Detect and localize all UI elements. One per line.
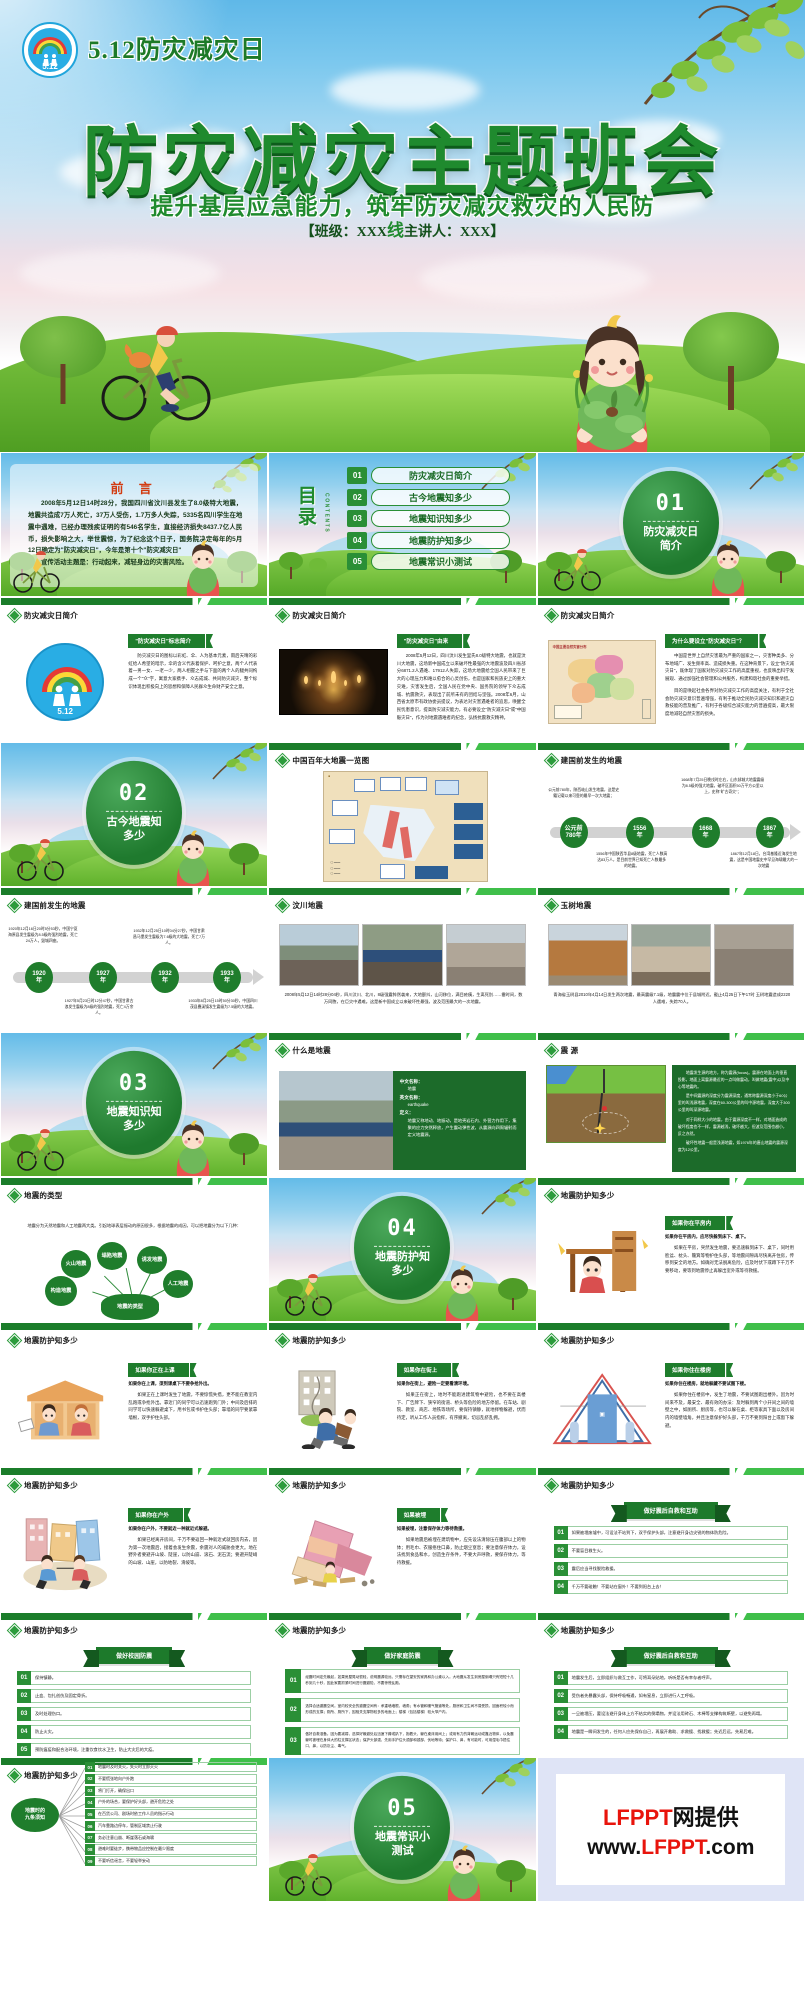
slide-header-text: 防灾减灾日简介 [561,610,615,621]
slide-thumbnail[interactable]: 05 地震常识小 测试 [268,1757,536,1902]
leaf-bullet-icon [9,1335,20,1346]
slide-header-text: 地震防护知多少 [24,1480,78,1491]
slide-top-bar [1,1178,267,1185]
slide-thumbnail-grid: 前 言 2008年5月12日14时28分，我国四川省汶川县发生了8.0级特大地震… [0,452,805,1902]
tree-icon [279,552,303,572]
leaf-bullet-icon [9,610,20,621]
toc-title-en: CONTENTS [323,493,329,533]
slide-top-bar [538,598,804,605]
numbered-list: 01 地震发生后，立即组织与救互工作，可将耳朵贴地，听听是否有幸存者呼声。 02… [554,1671,788,1739]
mindmap-node: 诱发地震 [137,1246,167,1274]
tree-icon [498,1278,528,1303]
timeline-node: 1920年 [25,962,53,993]
ribbon-text: 如果你在户外 [135,1513,169,1519]
intro-text: 地震分为天然地震和人工地震两大类。引起地球表层振动的原因很多，根据地震的成因，可… [15,1222,253,1229]
section-ribbon: 如果你住在楼房 [665,1363,725,1377]
hypocenter-diagram [546,1065,666,1172]
item-number: 02 [554,1689,568,1703]
leaf-bullet-icon [277,755,288,766]
slide-thumbnail[interactable]: 防灾减灾日简介 5.12 "防灾减灾日"标志简介 防灾减灾日的图标以彩虹、伞、人… [0,597,268,742]
body-text: 中国是世界上自然灾害最为严重的国家之一，灾害种类多、分布地域广、发生频率高、造成… [665,652,794,683]
section-number: 05 [387,1796,418,1821]
item-number: 01 [85,1762,95,1772]
girl-holding-earth-illustration [434,1845,494,1901]
photo-strip [548,924,794,986]
girl-holding-earth-illustration [163,830,223,886]
ribbon-text: 如果你在街上 [404,1368,438,1374]
slide-header-text: 中国百年大地震一览图 [292,755,369,766]
toc-number: 04 [347,532,367,549]
leaf-bullet-icon [277,1480,288,1491]
hero-meta-post: 主讲人：XXX】 [404,225,504,240]
hide-under-desk-illustration [548,1212,656,1313]
slide-header-text: 汶川地震 [292,900,323,911]
classroom-desk-illustration [11,1359,119,1458]
mindmap-node: 塌陷地震 [97,1242,127,1270]
item-text: 止血、包扎创伤及固定骨折。 [31,1689,251,1703]
item-text: 震后应当寻找脱险救援。 [568,1562,788,1576]
item-number: 08 [85,1844,95,1854]
section-band: 做好震后自救和互助 [624,1647,718,1664]
list-item: 09 不要听信谣言，不要轻举妄动 [85,1856,257,1866]
section-title-line1: 古今地震知 [107,816,162,830]
list-item: 05 在百货公司、剧场时依工作人员的指示行动 [85,1809,257,1819]
hero-brand-text: 5.12防灾减灾日 [88,30,266,66]
item-text: 地震是一瞬间发生的，任何人应先保存自己，再展开救助、求救援、找救援；先近后远，先… [568,1725,788,1739]
leaf-bullet-icon [277,900,288,911]
outdoor-escape-illustration [11,1504,119,1603]
slide-top-bar [538,888,804,895]
section-number: 03 [119,1071,150,1096]
list-item: 02 受伤者先暴露头部，保持呼吸畅通，如有窒息，立即进行人工呼吸。 [554,1689,788,1703]
definition-key: 定义： [400,1110,519,1116]
list-item: 03 及时处理伤口。 [17,1707,251,1721]
leaf-bullet-icon [546,1045,557,1056]
leaf-bullet-icon [546,900,557,911]
list-item: 03 做好自救准备。因为要减弱，选择好躲避处后迅速下蹲或趴下，抱着头，躲在桌床用… [285,1727,519,1755]
toc-item[interactable]: 03 地震知识知多少 [347,510,509,527]
slide-thumbnail[interactable]: 中国百年大地震一览图 ■ ◯ ━━━━◯ ━━━━◯ ━━━━ [268,742,536,887]
slide-header: 中国百年大地震一览图 [277,755,369,766]
slide-thumbnail[interactable]: 地震防护知多少 如果你正在上课 [0,1322,268,1467]
toc-label-text: 地震常识小测试 [371,553,509,570]
item-text: 务必注意山崩、断崖落石或海啸 [95,1833,257,1843]
slide-header-text: 玉树地震 [561,900,592,911]
leaf-branch-icon [185,1032,268,1083]
slide-thumbnail[interactable]: 地震防护知多少 做好校园防震 01 保持镇静。 02 止血、包扎创伤及固定骨折。… [0,1612,268,1757]
girl-holding-earth-illustration [537,312,687,452]
item-number: 03 [554,1562,568,1576]
earthquake-photo [279,924,359,986]
body-text: 地震发生源的地方，称为震源(focus)。震源在地面上的垂直投影，地面上离震源最… [678,1070,790,1090]
slide-thumbnail[interactable]: 地震防护知多少 如果你在平房内 [537,1177,805,1322]
tree-icon [766,551,796,576]
lead-text: 如果被埋，注意保存体力等待救援。 [397,1526,526,1532]
item-number: 04 [17,1725,31,1739]
watermark-line-2: www.LFPPT.com [587,1836,754,1860]
item-number: 03 [285,1727,301,1755]
mindmap-connectors [57,1764,87,1876]
map-caption: 中国主要自然灾害分布 [553,644,587,649]
list-item: 01 如果被埋废墟中，可设法不站到下，双手保护头部，注意避开身边尖锐的物体防危险… [554,1526,788,1540]
mindmap-node: 人工地震 [163,1270,193,1298]
numbered-list: 01 如果被埋废墟中，可设法不站到下，双手保护头部，注意避开身边尖锐的物体防危险… [554,1526,788,1594]
slide-thumbnail[interactable]: 地震防护知多少 做好震后自救和互助 01 地震发生后，立即组织与救互工作，可将耳… [537,1612,805,1757]
slide-header: 玉树地震 [546,900,592,911]
item-number: 09 [85,1856,95,1866]
toc-label-text: 地震知识知多少 [371,510,509,527]
hero-meta-green: 线 [387,221,404,240]
watermark-url-brand: LFPPT [641,1836,705,1859]
slide-header: 地震防护知多少 [277,1335,346,1346]
slide-header: 地震防护知多少 [546,1190,615,1201]
definition-panel: 中文名称： 地震 英文名称： earthquake 定义： 地震又称地动、地振动… [393,1071,526,1170]
leaf-branch-icon [722,452,805,503]
slide-header-text: 地震防护知多少 [292,1480,346,1491]
hero-meta: 【班级：XXX线主讲人：XXX】 [0,216,805,241]
leaf-branch-icon [454,1177,537,1228]
list-item: 03 将门打开，确保出口 [85,1786,257,1796]
boy-on-bicycle-illustration [15,1128,65,1172]
ribbon-text: "防灾减灾日"标志简介 [135,639,191,645]
definition-value: earthquake [408,1102,519,1107]
slide-thumbnail[interactable]: 地震防护知多少 [0,1467,268,1612]
tree-icon [309,558,327,574]
item-text: 户外的场合，要保护好头部，避开危险之处 [95,1797,257,1807]
lead-text: 如果你在上课，须到课桌下不要争抢外出。 [128,1381,257,1387]
section-title-line2: 测试 [391,1845,413,1859]
item-number: 04 [85,1797,95,1807]
list-item: 02 不要盲目救生火。 [554,1544,788,1558]
list-item: 04 地震是一瞬间发生的，任何人应先保存自己，再展开救助、求救援、找救援；先近后… [554,1725,788,1739]
watermark-suffix: 网提供 [673,1805,739,1830]
timeline-node: 1927年 [89,962,117,993]
slide-thumbnail[interactable]: 01 防灾减灾日 简介 [537,452,805,597]
definition-key: 英文名称： [400,1095,519,1101]
earthquake-photo [631,924,711,986]
slide-top-bar [1,888,267,895]
list-item: 02 不要慌张地向户外跑 [85,1774,257,1784]
list-item: 03 震后应当寻找脱险救援。 [554,1562,788,1576]
leaf-bullet-icon [546,1480,557,1491]
item-text: 不要盲目救生火。 [568,1544,788,1558]
slide-top-bar [269,1323,535,1330]
timeline-node: 1933年 [213,962,241,993]
slide-header: 地震防护知多少 [546,1335,615,1346]
item-number: 01 [17,1671,31,1685]
item-text: 防止火灾。 [31,1725,251,1739]
slide-header-text: 建国前发生的地震 [561,755,623,766]
toc-label-text: 地震防护知多少 [371,532,509,549]
item-number: 02 [17,1689,31,1703]
timeline-note: 1932年12月25日10时04分27秒，中国甘肃昌马堡发生震级为7.6级的大地… [133,928,205,946]
slide-thumbnail[interactable]: 防灾减灾日简介 中国主要自然灾害分布 为什么要设立"防灾减灾日"？ 中国是世界上… [537,597,805,742]
slide-thumbnail[interactable]: 地震防护知多少 [268,1322,536,1467]
slide-header-text: 震 源 [561,1045,579,1056]
body-text: 如果正在上课时发生了地震，不要惊慌失措，更不能在教室内乱跑或争抢外出。靠近门的同… [128,1391,257,1422]
boy-on-bicycle-illustration [552,548,602,592]
watermark-url-pre: www. [587,1836,641,1859]
mindmap-center: 地震时的九条须知 [11,1798,59,1832]
boy-on-bicycle-illustration [283,1273,333,1317]
slide-thumbnail[interactable]: 地震防护知多少 ▣ 如果你住在楼房 如果你住在楼房，就地躲藏不要试图下楼。 如果 [537,1322,805,1467]
item-number: 01 [554,1671,568,1685]
tree-icon [496,1860,526,1885]
toc-number: 01 [347,467,367,484]
list-item: 03 一旦被埋压，要设法避开身体上方不结实的倒塌物，并设法用砖石、木棒等支撑构筑… [554,1707,788,1721]
list-item: 05 预防瘟疫和配合治环境，注重饮食饮水卫生，防止大灾后的大疫。 [17,1743,251,1757]
list-item: 01 经震时间定先躲起，如果房屋晃动很轻，说明震源较远，只需标在望安的家具和办公… [285,1669,519,1693]
leaf-bullet-icon [546,1625,557,1636]
section-title-line2: 简介 [660,540,682,554]
slide-thumbnail[interactable]: 地震防护知多少 做好家庭防震 01 经震时间定先躲起，如果房屋晃动很轻，说明震源… [268,1612,536,1757]
slide-header-text: 防灾减灾日简介 [292,610,346,621]
ribbon-text: 如果被埋 [404,1513,426,1519]
leaf-branch-icon [454,1757,537,1808]
ribbon-text: 为什么要设立"防灾减灾日"？ [672,639,744,645]
item-number: 07 [85,1833,95,1843]
item-text: 将门打开，确保出口 [95,1786,257,1796]
body-text-2: 目的是唤起社会各界对防灾减灾工作的高度关注，有利于全社会防灾减灾意识普遍增强，有… [665,687,794,718]
slide-top-bar [1,1323,267,1330]
slide-thumbnail[interactable]: 地震防护知多少 如果被埋 如果被埋，注意保存体力等待救援。 [268,1467,536,1612]
toc-item[interactable]: 04 地震防护知多少 [347,532,509,549]
item-number: 03 [554,1707,568,1721]
slide-top-bar [538,743,804,750]
item-text: 不要慌张地向户外跑 [95,1774,257,1784]
boy-on-bicycle-illustration [283,1853,333,1897]
toc-label: 目录 [295,487,321,529]
slide-header: 汶川地震 [277,900,323,911]
slide-header-text: 地震防护知多少 [561,1480,615,1491]
list-item: 01 保持镇静。 [17,1671,251,1685]
slide-thumbnail[interactable]: 地震的类型 地震分为天然地震和人工地震两大类。引起地球表层振动的原因很多，根据地… [0,1177,268,1322]
item-number: 02 [85,1774,95,1784]
slide-header-text: 地震防护知多少 [561,1335,615,1346]
slide-top-bar [269,1033,535,1040]
body-text: 如果正在街上，地时不能跑进建筑物中避险，也不要在高楼下、广告牌下、狭窄的街道、桥… [397,1391,526,1422]
item-number: 02 [285,1698,301,1722]
timeline-note: 1867年12月18日，台湾基隆近海发生地震，这是中国地震史中罕见海啸最大的一次… [728,851,800,869]
tree-left [20,316,106,386]
section-ribbon: 如果被埋 [397,1508,440,1522]
timeline-note: 1556年中国陕西华县8级地震，死亡人数高达83万人，是目前世界已知死亡人数最多… [596,851,668,869]
slide-thumbnail[interactable]: 地震防护知多少 地震时的九条须知 01 地震时及时关火，失火时立即灭火 02 不… [0,1757,268,1902]
slide-thumbnail[interactable]: 震 源 地震发生源的地方，称为震源(focus)。震源在地面上的垂直投影，地面上… [537,1032,805,1177]
slide-header-text: 地震防护知多少 [561,1190,615,1201]
item-text: 选择合适避震空间。室内较安全的避震空间有：承重墙墙根、墙角；有水管和暖气管道等处… [301,1698,519,1722]
timeline-note: 1927年5月23日时12分47秒，中国甘肃古浪发生震级为8级的强烈地震，死亡4… [63,998,135,1016]
photo-strip [279,924,525,986]
slide-header: 地震防护知多少 [277,1480,346,1491]
item-text: 受伤者先暴露头部，保持呼吸畅通，如有窒息，立即进行人工呼吸。 [568,1689,788,1703]
slide-top-bar [538,1033,804,1040]
slide-top-bar [538,1323,804,1330]
slide-top-bar [538,1178,804,1185]
item-text: 一旦被埋压，要设法避开身体上方不结实的倒塌物，并设法用砖石、木棒等支撑构筑断壁，… [568,1707,788,1721]
slide-header-text: 地震的类型 [24,1190,63,1201]
toc-item[interactable]: 02 古今地震知多少 [347,489,509,506]
street-rescue-illustration [279,1359,387,1458]
slide-header: 地震防护知多少 [277,1625,346,1636]
leaf-bullet-icon [546,1190,557,1201]
watermark-line-1: LFPPT网提供 [603,1800,739,1832]
boy-on-bicycle-illustration [96,318,216,428]
slide-thumbnail[interactable]: 汶川地震 2008年5月12日14时28分04秒，四川汶川、北川，8级强震猝然袭… [268,887,536,1032]
timeline-node: 1932年 [151,962,179,993]
section-title-line1: 地震知识知 [107,1106,162,1120]
timeline-node: 1867年 [756,817,784,848]
toc-number: 05 [347,553,367,570]
hero-cover-slide: 5.12 5.12防灾减灾日 防灾减灾主题班会 提升基层应急能力，筑牢防灾减灾救… [0,0,805,452]
item-text: 预防瘟疫和配合治环境，注重饮食饮水卫生，防止大灾后的大疫。 [31,1743,251,1757]
lead-text: 如果你在户外，不要就近一种就近式躲避。 [128,1526,257,1532]
earthquake-photo [362,924,442,986]
timeline-node: 1668年 [692,817,720,848]
slide-top-bar [1,1613,267,1620]
disaster-prevention-logo: 5.12 [22,22,78,78]
photo-caption: 2008年5月12日14时28分04秒，四川汶川、北川，8级强震猝然袭来，大地颤… [283,992,523,1005]
numbered-list: 01 保持镇静。 02 止血、包扎创伤及固定骨折。 03 及时处理伤口。 04 … [17,1671,251,1757]
item-text: 地震时及时关火，失火时立即灭火 [95,1762,257,1772]
earthquake-photo [446,924,526,986]
list-item: 04 千万不要碰触！不要站在窗外！不要到阳台上去！ [554,1580,788,1594]
section-ribbon: "防灾减灾日"由来 [397,634,462,648]
section-title-line1: 防灾减灾日 [643,526,698,540]
slide-top-bar [269,598,535,605]
body-text: 2008年5月12日，四川汶川发生里氏8.0级特大地震，也就是汶川大地震，这场新… [397,652,526,721]
svg-text:▣: ▣ [599,1411,605,1417]
list-item: 04 户外的场合，要保护好头部，避开危险之处 [85,1797,257,1807]
leaf-bullet-icon [546,1335,557,1346]
item-number: 06 [85,1821,95,1831]
toc-title-cn: 目录 [295,487,321,529]
section-title-line2: 多少 [391,1265,413,1279]
slide-header: 地震的类型 [9,1190,63,1201]
section-ribbon: 为什么要设立"防灾减灾日"？ [665,634,758,648]
boy-on-bicycle-illustration [15,838,65,882]
earthquake-photo [279,1071,392,1170]
slide-top-bar [269,743,535,750]
item-number: 03 [17,1707,31,1721]
slide-thumbnail[interactable]: 什么是地震 中文名称： 地震 英文名称： earthquake 定义： 地震又称… [268,1032,536,1177]
numbered-list: 01 地震时及时关火，失火时立即灭火 02 不要慌张地向户外跑 03 将门打开，… [85,1762,257,1866]
leaf-bullet-icon [9,900,20,911]
section-title-line1: 地震防护知 [375,1251,430,1265]
toc-number: 02 [347,489,367,506]
slide-thumbnail[interactable]: 前 言 2008年5月12日14时28分，我国四川省汶川县发生了8.0级特大地震… [0,452,268,597]
lead-text: 如果你住在楼房，就地躲藏不要试图下楼。 [665,1381,794,1387]
slide-thumbnail[interactable]: 建国前发生的地震 公元前780年，陕西岐山发生地震，这是史籍记载以来可靠的最早一… [537,742,805,887]
logo-image: 5.12 [11,630,119,733]
watermark-panel: LFPPT网提供 www.LFPPT.com [537,1757,805,1902]
item-text: 避难时要徒步，携带物品应控制在最少限度 [95,1844,257,1854]
slide-thumbnail[interactable]: 防灾减灾日简介 "防灾减灾日"由来 2008年5月12日，四川汶川发生里氏8.0… [268,597,536,742]
toc-item[interactable]: 01 防灾减灾日简介 [347,467,509,484]
slide-thumbnail[interactable]: 建国前发生的地震 1920年12月16日20时5分53秒，中国宁夏海原县发生震级… [0,887,268,1032]
photo-caption: 青海省玉树县2010年4月14日发生两次地震，最高震级7.1级，地震震中位于县城… [552,992,792,1005]
toc-item[interactable]: 05 地震常识小测试 [347,553,509,570]
ribbon-text: 如果你在平房内 [672,1221,711,1227]
slide-header: 地震防护知多少 [546,1625,615,1636]
list-item: 06 汽车靠路边停车，管制区域禁止行驶 [85,1821,257,1831]
slide-thumbnail[interactable]: 地震防护知多少 做好震后自救和互助 01 如果被埋废墟中，可设法不站到下，双手保… [537,1467,805,1612]
item-number: 04 [554,1580,568,1594]
slide-header: 地震防护知多少 [546,1480,615,1491]
section-band: 做好校园防震 [96,1647,172,1664]
slide-header: 防灾减灾日简介 [9,610,78,621]
slide-thumbnail[interactable]: 03 地震知识知 多少 [0,1032,268,1177]
slide-header: 建国前发生的地震 [546,755,623,766]
body-text: 防灾减灾日的图标以彩虹、伞、人为基本元素，雨后天晴的彩虹给人希望的暗示，伞的含义… [128,652,257,691]
slide-header: 地震防护知多少 [9,1335,78,1346]
century-earthquake-map: ■ ◯ ━━━━◯ ━━━━◯ ━━━━ [323,771,487,882]
section-number: 01 [656,491,687,516]
section-ribbon: 如果你在街上 [397,1363,452,1377]
item-number: 03 [85,1786,95,1796]
body-text: 如果在平房，突然发生地震，要迅速躲到床下、桌下，同时用脸盆、枕头、簸箕等物护住头… [665,1244,794,1275]
slide-title: 前 言 [10,478,258,497]
slide-thumbnail[interactable]: 02 古今地震知 多少 [0,742,268,887]
timeline-note: 1933年8月25日15时50分30秒，中国四川茂县叠溪镇发生震级为7.5级的大… [187,998,259,1010]
slide-header-text: 防灾减灾日简介 [24,610,78,621]
watermark-url-post: .com [705,1836,754,1859]
list-item: 04 防止火灾。 [17,1725,251,1739]
item-number: 05 [85,1809,95,1819]
mindmap: 火山地震 塌陷地震 诱发地震 构造地震 人工地震 地震的类型 [1,1250,267,1320]
body-text: 如果地震后被埋在建筑物中，应先设法清除压在腹部以上的物体；用毛巾、衣服捂住口鼻，… [397,1536,526,1567]
body-text-3: 对于同样大小的地震，由于震源深度不一样，对地面造成的破坏程度也不一样，震源越浅，… [678,1117,790,1137]
mindmap-center: 地震的类型 [101,1294,159,1320]
slide-header-text: 地震防护知多少 [24,1335,78,1346]
item-number: 04 [554,1725,568,1739]
section-band: 做好震后自救和互助 [624,1502,718,1519]
slide-thumbnail[interactable]: 目录 CONTENTS 01 防灾减灾日简介 02 古今地震知多少 03 地震知… [268,452,536,597]
item-text: 做好自救准备。因为要减弱，选择好躲避处后迅速下蹲或趴下，抱着头，躲在桌床用间上；… [301,1727,519,1755]
tree-icon [229,1133,259,1158]
slide-top-bar [538,1613,804,1620]
item-text: 地震发生后，立即组织与救互工作，可将耳朵贴地，听听是否有幸存者呼声。 [568,1671,788,1685]
timeline-node: 1556年 [626,817,654,848]
section-title-line2: 多少 [123,830,145,844]
definition-value: 地震又称地动、地振动，是地壳岩石内、外营力作用下，集聚的应力突然释放，产生震动弹… [408,1117,519,1138]
leaf-bullet-icon [277,1625,288,1636]
list-item: 08 避难时要徒步，携带物品应控制在最少限度 [85,1844,257,1854]
body-text: 如果你住在楼房中，发生了地震，不要试图跑出楼外。因为时间来不及，最安全、最有效的… [665,1391,794,1430]
toc-number: 03 [347,510,367,527]
body-text-4: 破坏性地震一般是浅源地震，如1976年的唐山地震的震源深度为12公里。 [678,1140,790,1154]
leaf-bullet-icon [9,1625,20,1636]
slide-header: 什么是地震 [277,1045,331,1056]
slide-header-text: 什么是地震 [292,1045,331,1056]
definition-key: 中文名称： [400,1079,519,1085]
girl-holding-earth-illustration [163,1120,223,1176]
boy-on-bicycle-illustration [11,550,61,594]
section-ribbon: 如果你在户外 [128,1508,183,1522]
slide-header: 建国前发生的地震 [9,900,86,911]
item-number: 05 [17,1743,31,1757]
china-hazard-map: 中国主要自然灾害分布 [548,630,656,733]
mindmap-node: 火山地震 [61,1250,91,1278]
leaf-bullet-icon [277,1335,288,1346]
slide-header-text: 地震防护知多少 [24,1625,78,1636]
slide-thumbnail[interactable]: 04 地震防护知 多少 [268,1177,536,1322]
tree-icon [229,843,259,868]
slide-thumbnail[interactable]: 玉树地震 青海省玉树县2010年4月14日发生两次地震，最高震级7.1级，地震震… [537,887,805,1032]
earthquake-photo [548,924,628,986]
list-item: 01 地震发生后，立即组织与救互工作，可将耳朵贴地，听听是否有幸存者呼声。 [554,1671,788,1685]
slide-top-bar [1,598,267,605]
